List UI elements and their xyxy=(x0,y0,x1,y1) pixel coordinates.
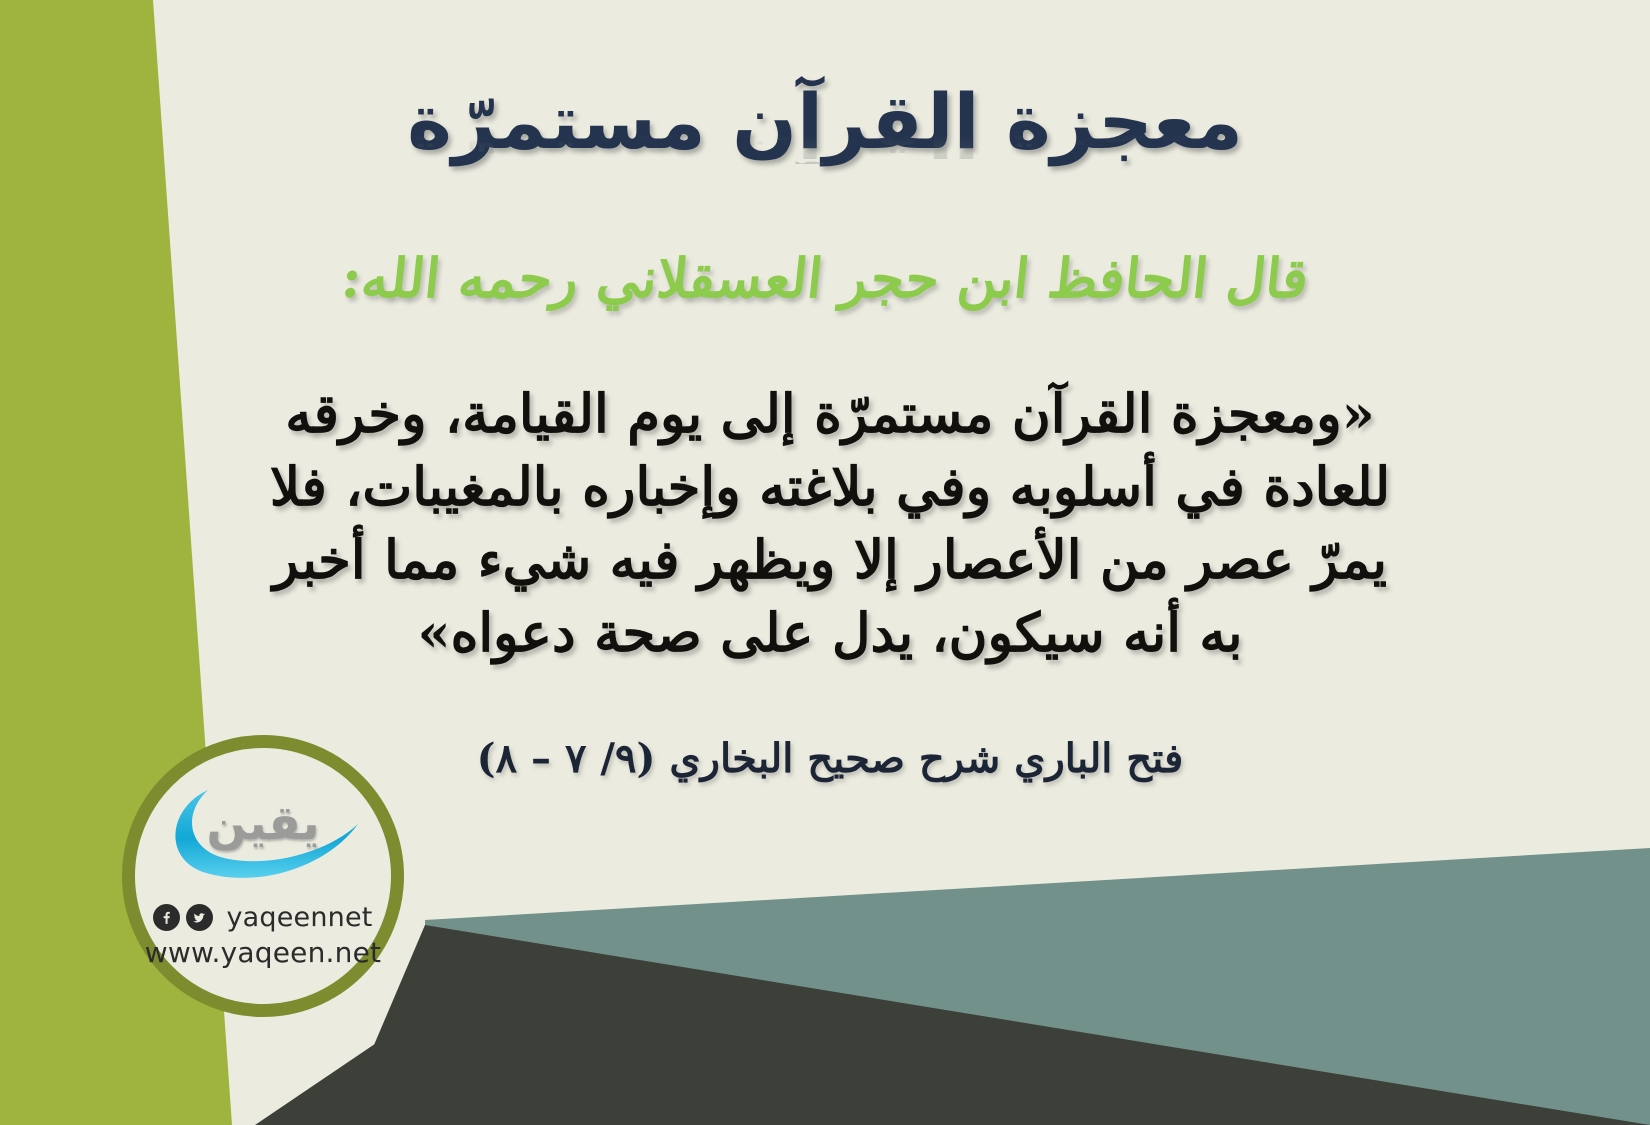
logo-badge[interactable]: يقين yaqeennet www.yaqeen.net xyxy=(122,735,404,1017)
logo-handle: yaqeennet xyxy=(226,902,372,933)
logo-website-url: www.yaqeen.net xyxy=(145,936,381,969)
quote-line: به أنه سيكون، يدل على صحة دعواه» xyxy=(255,597,1405,670)
quote-line: يمرّ عصر من الأعصار إلا ويظهر فيه شيء مم… xyxy=(255,524,1405,597)
quote-line: «ومعجزة القرآن مستمرّة إلى يوم القيامة، … xyxy=(255,378,1405,451)
logo-wordmark: يقين xyxy=(158,796,368,851)
quote-body: «ومعجزة القرآن مستمرّة إلى يوم القيامة، … xyxy=(255,378,1405,671)
poster-canvas: معجزة القرآن مستمرّة معجزة القرآن مستمرّ… xyxy=(0,0,1650,1125)
quote-line: للعادة في أسلوبه وفي بلاغته وإخباره بالم… xyxy=(255,451,1405,524)
attribution-line: قال الحافظ ابن حجر العسقلاني رحمه الله: xyxy=(0,246,1650,310)
facebook-icon[interactable] xyxy=(153,904,180,931)
twitter-icon[interactable] xyxy=(186,904,213,931)
logo-mark: يقين xyxy=(158,782,368,886)
logo-social-row: yaqeennet xyxy=(153,902,372,933)
headline-block: معجزة القرآن مستمرّة معجزة القرآن مستمرّ… xyxy=(0,82,1650,226)
page-title-reflection: معجزة القرآن مستمرّة xyxy=(0,125,1650,163)
source-citation: فتح الباري شرح صحيح البخاري (٩/ ٧ – ٨) xyxy=(255,735,1405,782)
